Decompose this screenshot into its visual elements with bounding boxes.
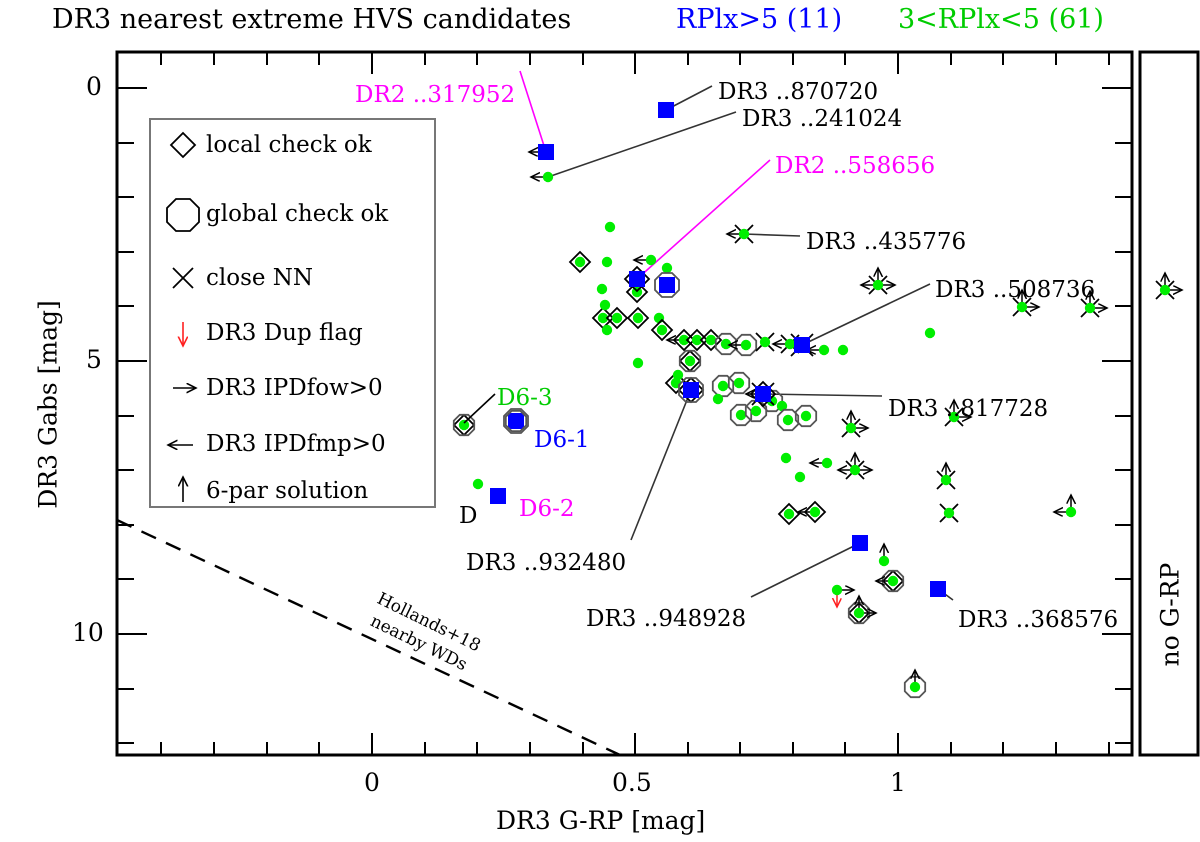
data-point-green — [605, 222, 615, 232]
legend-diamond-icon — [171, 133, 195, 157]
d6-1-sample-square — [510, 415, 522, 427]
data-point-green — [612, 313, 622, 323]
data-point-blue — [659, 277, 675, 293]
legend-label-local-check: local check ok — [206, 132, 372, 158]
data-point-blue — [794, 337, 810, 353]
y-tick-0: 0 — [86, 72, 102, 101]
legend-cross-icon — [173, 268, 193, 288]
data-point-green — [734, 378, 744, 388]
data-point-green — [1017, 302, 1027, 312]
data-point-green — [850, 465, 860, 475]
data-point-green — [543, 172, 553, 182]
data-point-green — [706, 335, 716, 345]
data-point-green — [784, 509, 794, 519]
data-point-green — [760, 337, 770, 347]
data-point-green — [685, 356, 695, 366]
data-point-green — [597, 284, 607, 294]
data-point-green — [879, 556, 889, 566]
legend-octagon-icon — [167, 199, 199, 231]
data-point-green — [736, 410, 746, 420]
data-point-green — [721, 339, 731, 349]
data-point-green — [602, 325, 612, 335]
annotation-label-3508736: DR3 ..508736 — [935, 277, 1095, 303]
annotation-label-3932480: DR3 ..932480 — [466, 550, 626, 576]
y-tick-1: 5 — [86, 345, 102, 374]
data-point-green — [473, 479, 483, 489]
no-grp-panel-label: no G-RP — [1156, 535, 1185, 695]
annotation-label-3368576: DR3 ..368576 — [958, 607, 1118, 633]
inline-label-d6-3: D6-3 — [497, 385, 552, 411]
data-point-green — [795, 472, 805, 482]
data-point-blue — [538, 144, 554, 160]
leader-a3 — [548, 112, 736, 177]
data-point-green — [575, 257, 585, 267]
y-axis-label: DR3 Gabs [mag] — [34, 295, 63, 515]
data-point-green — [633, 358, 643, 368]
data-point-green — [741, 340, 751, 350]
data-point-green — [785, 339, 795, 349]
data-point-green — [854, 608, 864, 618]
data-point-green — [888, 576, 898, 586]
legend-box: local check ok global check ok close NN … — [149, 118, 436, 508]
legend-label-dup-flag: DR3 Dup flag — [206, 320, 363, 346]
data-point-green — [944, 508, 954, 518]
x-tick-0: 0 — [364, 768, 380, 797]
data-point-green — [873, 280, 883, 290]
legend-label-ipdfow: DR3 IPDfow>0 — [206, 375, 383, 401]
data-point-green — [801, 411, 811, 421]
x-axis-label: DR3 G-RP [mag] — [496, 806, 705, 835]
data-point-green — [673, 370, 683, 380]
data-point-green — [1085, 303, 1095, 313]
data-point-green — [781, 453, 791, 463]
annotation-label-3948928: DR3 ..948928 — [586, 606, 746, 632]
inline-label-d: D — [459, 503, 477, 529]
inline-label-d6-2: D6-2 — [519, 496, 574, 522]
annotation-label-3817728: DR3 ..817728 — [888, 396, 1048, 422]
leader-a1 — [520, 71, 546, 152]
data-point-green — [713, 394, 723, 404]
data-point-green — [751, 406, 761, 416]
annotation-leader-lines — [520, 71, 953, 600]
data-point-green — [819, 345, 829, 355]
annotation-label-3435776: DR3 ..435776 — [806, 229, 966, 255]
d6-2-sample-square — [492, 490, 504, 502]
data-point-green — [657, 325, 667, 335]
data-point-green — [941, 475, 951, 485]
data-point-blue — [852, 535, 868, 551]
data-point-green — [633, 313, 643, 323]
data-point-green — [846, 423, 856, 433]
legend-label-global-check: global check ok — [206, 201, 388, 227]
inline-label-d6-1: D6-1 — [534, 427, 589, 453]
annotation-label-2317952: DR2 ..317952 — [355, 82, 515, 108]
data-point-green — [646, 255, 656, 265]
y-tick-2: 10 — [72, 618, 104, 647]
data-point-green — [822, 458, 832, 468]
data-point-green — [838, 345, 848, 355]
data-point-blue — [755, 386, 771, 402]
annotation-label-2558656: DR2 ..558656 — [775, 153, 935, 179]
data-point-green — [459, 420, 469, 430]
data-point-blue — [629, 271, 645, 287]
leader-a6 — [802, 284, 930, 345]
data-point-blue — [658, 102, 674, 118]
data-point-green — [600, 300, 610, 310]
data-point-blue — [683, 382, 699, 398]
annotation-label-3241024: DR3 ..241024 — [742, 106, 902, 132]
data-point-blue — [930, 581, 946, 597]
annotation-label-3870720: DR3 ..870720 — [718, 79, 878, 105]
d6-3-leader-line — [464, 394, 495, 423]
data-point-green — [910, 682, 920, 692]
data-point-green — [783, 415, 793, 425]
data-point-green — [1066, 507, 1076, 517]
x-tick-2: 1 — [890, 768, 906, 797]
x-tick-1: 0.5 — [612, 768, 652, 797]
legend-label-close-nn: close NN — [206, 265, 313, 291]
data-point-green — [662, 263, 672, 273]
data-point-green — [925, 328, 935, 338]
data-point-green — [1160, 285, 1170, 295]
data-point-green — [832, 585, 842, 595]
leader-a8 — [631, 390, 691, 540]
leader-a4 — [637, 160, 770, 279]
legend-label-ipdfmp: DR3 IPDfmp>0 — [206, 431, 386, 457]
leader-a5 — [744, 234, 800, 236]
data-point-green — [810, 507, 820, 517]
leader-a9 — [751, 543, 860, 597]
data-point-green — [602, 257, 612, 267]
data-point-green — [739, 229, 749, 239]
legend-label-6par: 6-par solution — [206, 478, 368, 504]
data-point-green — [718, 381, 728, 391]
